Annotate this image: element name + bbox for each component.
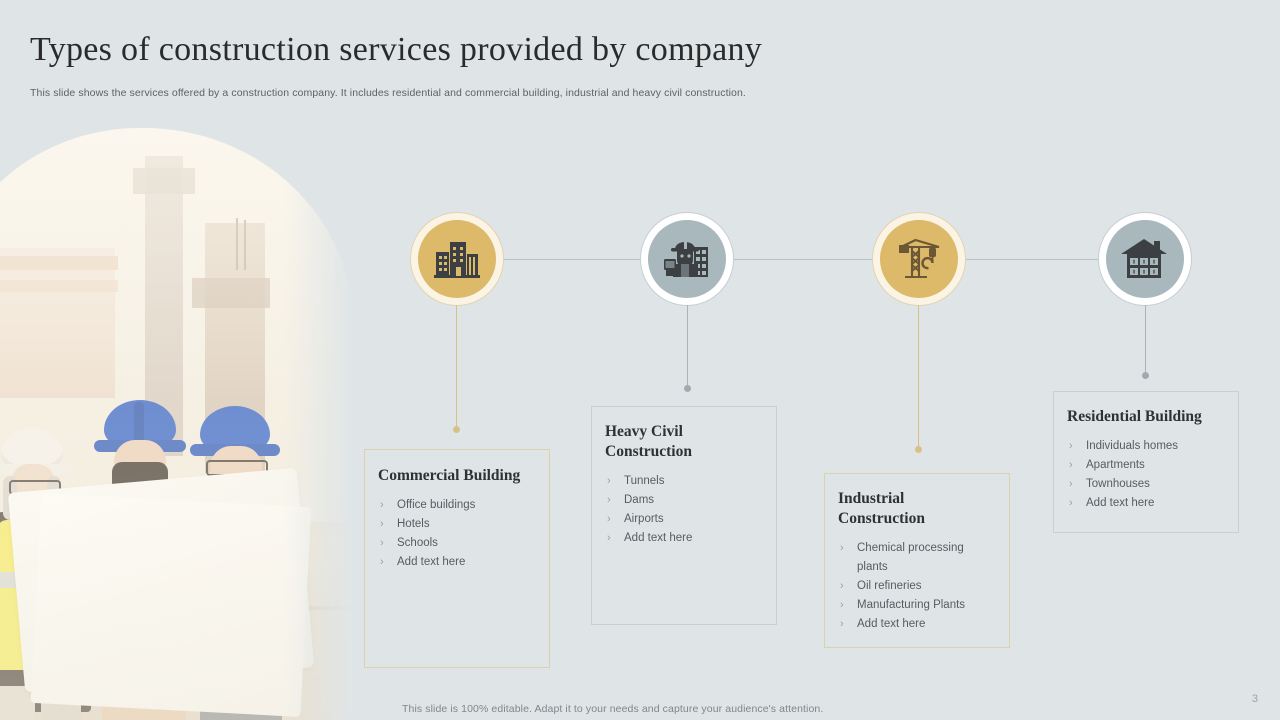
tower-crane-icon [895,236,943,282]
page-subtitle: This slide shows the services offered by… [30,86,1030,100]
list-item: ›Chemical processing plants [838,539,995,577]
list-item-label: Chemical processing plants [857,542,964,573]
chevron-right-icon: › [380,553,384,572]
list-item: ›Schools [378,534,535,553]
node-disc-1 [418,220,496,298]
node-disc-4 [1106,220,1184,298]
service-card-commercial-building[interactable]: Commercial Building ›Office buildings ›H… [364,449,550,668]
card-list: ›Tunnels ›Dams ›Airports ›Add text here [605,472,762,548]
list-item: ›Add text here [378,553,535,572]
connector-line-1 [456,305,457,429]
office-buildings-icon [434,238,480,280]
card-list: ›Individuals homes ›Apartments ›Townhous… [1067,437,1224,513]
connector-dot-4 [1142,372,1149,379]
list-item-label: Tunnels [624,475,665,487]
list-item: ›Dams [605,491,762,510]
chevron-right-icon: › [380,534,384,553]
list-item-label: Dams [624,494,654,506]
footer-note: This slide is 100% editable. Adapt it to… [402,703,823,715]
node-disc-3 [880,220,958,298]
list-item: ›Oil refineries [838,577,995,596]
list-item-label: Add text here [624,532,692,544]
card-title: Residential Building [1067,407,1224,427]
card-title: Commercial Building [378,466,535,486]
timeline-connector-line [500,259,1100,260]
list-item-label: Oil refineries [857,580,922,592]
list-item-label: Add text here [1086,497,1154,509]
connector-line-2 [687,305,688,387]
chevron-right-icon: › [380,496,384,515]
chevron-right-icon: › [1069,437,1073,456]
chevron-right-icon: › [1069,494,1073,513]
chevron-right-icon: › [607,529,611,548]
chevron-right-icon: › [607,472,611,491]
timeline-node-4[interactable] [1099,213,1191,305]
list-item: ›Add text here [1067,494,1224,513]
list-item: ›Hotels [378,515,535,534]
chevron-right-icon: › [1069,475,1073,494]
connector-line-3 [918,305,919,449]
list-item: ›Individuals homes [1067,437,1224,456]
chevron-right-icon: › [840,615,844,634]
timeline-node-3[interactable] [873,213,965,305]
card-list: ›Chemical processing plants ›Oil refiner… [838,539,995,634]
node-disc-2 [648,220,726,298]
team-photo [0,128,354,720]
timeline-node-2[interactable] [641,213,733,305]
list-item-label: Individuals homes [1086,440,1178,452]
connector-dot-1 [453,426,460,433]
list-item-label: Airports [624,513,664,525]
card-title: Industrial Construction [838,489,995,529]
photo-edge-fade [284,128,354,720]
page-number: 3 [1252,693,1258,705]
chevron-right-icon: › [840,539,844,558]
card-list: ›Office buildings ›Hotels ›Schools ›Add … [378,496,535,572]
list-item-label: Schools [397,537,438,549]
list-item: ›Add text here [605,529,762,548]
list-item: ›Tunnels [605,472,762,491]
chevron-right-icon: › [607,491,611,510]
list-item-label: Townhouses [1086,478,1150,490]
connector-dot-2 [684,385,691,392]
connector-dot-3 [915,446,922,453]
chevron-right-icon: › [380,515,384,534]
list-item: ›Apartments [1067,456,1224,475]
list-item: ›Airports [605,510,762,529]
list-item-label: Apartments [1086,459,1145,471]
card-title: Heavy Civil Construction [605,422,762,462]
page-title: Types of construction services provided … [30,28,762,72]
list-item-label: Office buildings [397,499,475,511]
list-item: ›Add text here [838,615,995,634]
list-item: ›Townhouses [1067,475,1224,494]
service-card-heavy-civil-construction[interactable]: Heavy Civil Construction ›Tunnels ›Dams … [591,406,777,625]
service-card-industrial-construction[interactable]: Industrial Construction ›Chemical proces… [824,473,1010,648]
service-card-residential-building[interactable]: Residential Building ›Individuals homes … [1053,391,1239,533]
list-item-label: Hotels [397,518,430,530]
list-item-label: Add text here [857,618,925,630]
chevron-right-icon: › [1069,456,1073,475]
chevron-right-icon: › [840,596,844,615]
chevron-right-icon: › [607,510,611,529]
list-item: ›Manufacturing Plants [838,596,995,615]
construction-worker-icon [664,237,710,281]
connector-line-4 [1145,305,1146,375]
house-icon [1121,237,1169,281]
list-item: ›Office buildings [378,496,535,515]
slide-canvas: Types of construction services provided … [0,0,1280,720]
chevron-right-icon: › [840,577,844,596]
list-item-label: Manufacturing Plants [857,599,965,611]
list-item-label: Add text here [397,556,465,568]
timeline-node-1[interactable] [411,213,503,305]
